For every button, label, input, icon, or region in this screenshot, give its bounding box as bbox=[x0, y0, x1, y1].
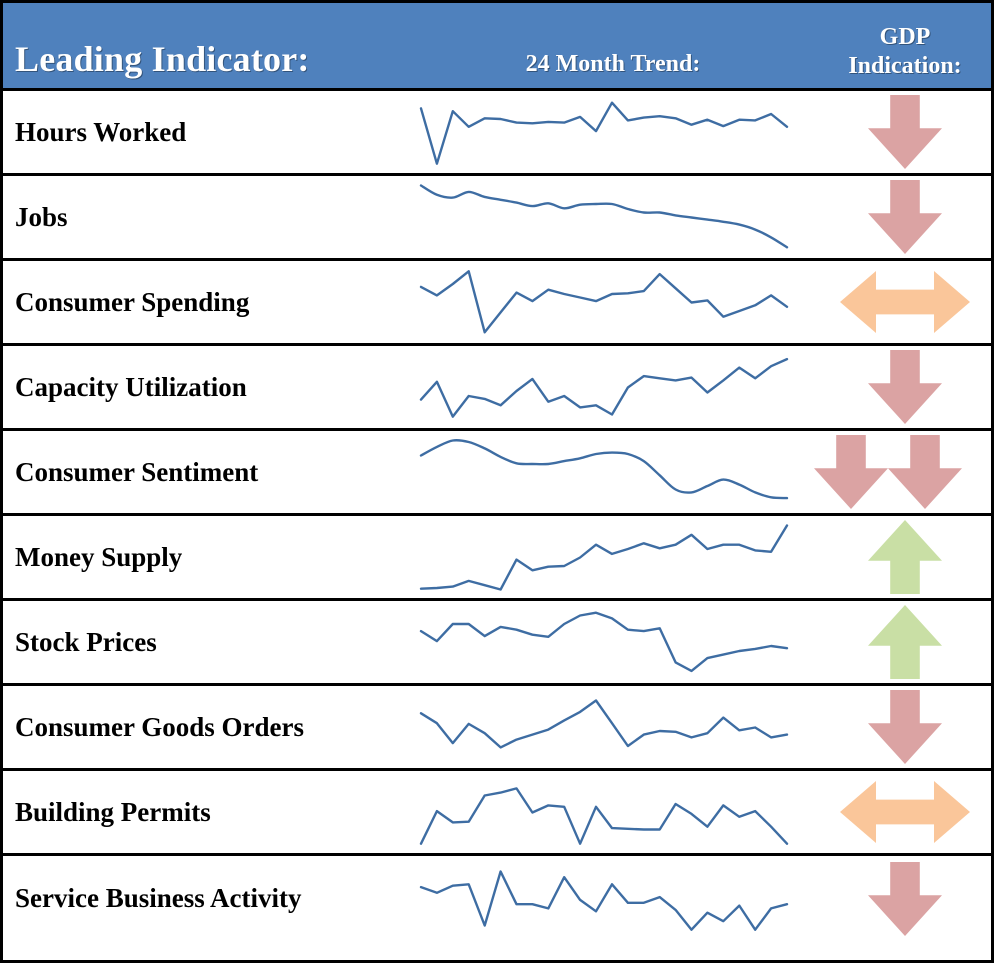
table-row: Building Permits bbox=[3, 771, 991, 856]
table-row: Money Supply bbox=[3, 516, 991, 601]
header-gdp-line2: Indication: bbox=[848, 52, 961, 80]
gdp-indication-cell bbox=[819, 601, 991, 683]
table-header-row: Leading Indicator: 24 Month Trend: GDP I… bbox=[3, 3, 991, 91]
table-row: Capacity Utilization bbox=[3, 346, 991, 431]
sparkline-3 bbox=[407, 346, 797, 429]
gdp-indication-cell bbox=[819, 431, 991, 513]
indicator-label: Consumer Goods Orders bbox=[3, 686, 407, 768]
trend-sparkline-cell bbox=[407, 261, 819, 343]
trend-sparkline-cell bbox=[407, 771, 819, 853]
double-arrow-down-icon bbox=[814, 435, 962, 509]
arrow-down-icon bbox=[868, 95, 942, 169]
indicator-label: Service Business Activity bbox=[3, 856, 407, 941]
table-body: Hours WorkedJobsConsumer SpendingCapacit… bbox=[3, 91, 991, 941]
sparkline-5 bbox=[407, 516, 797, 599]
indicator-label: Consumer Sentiment bbox=[3, 431, 407, 513]
header-gdp-line1: GDP bbox=[880, 23, 931, 51]
sparkline-7 bbox=[407, 686, 797, 769]
arrow-down-icon bbox=[868, 180, 942, 254]
sparkline-9 bbox=[407, 857, 797, 940]
arrow-down-icon bbox=[868, 350, 942, 424]
sparkline-4 bbox=[407, 431, 797, 514]
table-row: Stock Prices bbox=[3, 601, 991, 686]
gdp-indication-cell bbox=[819, 261, 991, 343]
arrow-up-icon bbox=[868, 605, 942, 679]
leading-indicators-table: Leading Indicator: 24 Month Trend: GDP I… bbox=[0, 0, 994, 963]
gdp-indication-cell bbox=[819, 91, 991, 173]
table-row: Consumer Spending bbox=[3, 261, 991, 346]
gdp-indication-cell bbox=[819, 856, 991, 941]
gdp-indication-cell bbox=[819, 771, 991, 853]
gdp-indication-cell bbox=[819, 516, 991, 598]
header-leading-indicator: Leading Indicator: bbox=[3, 3, 407, 88]
trend-sparkline-cell bbox=[407, 856, 819, 941]
gdp-indication-cell bbox=[819, 346, 991, 428]
sparkline-0 bbox=[407, 91, 797, 174]
gdp-indication-cell bbox=[819, 686, 991, 768]
indicator-label: Stock Prices bbox=[3, 601, 407, 683]
header-gdp-indication: GDP Indication: bbox=[819, 3, 991, 88]
header-24-month-trend: 24 Month Trend: bbox=[407, 3, 819, 88]
trend-sparkline-cell bbox=[407, 91, 819, 173]
indicator-label: Hours Worked bbox=[3, 91, 407, 173]
indicator-label: Capacity Utilization bbox=[3, 346, 407, 428]
arrow-down-icon bbox=[868, 862, 942, 936]
sparkline-1 bbox=[407, 176, 797, 259]
gdp-indication-cell bbox=[819, 176, 991, 258]
sparkline-8 bbox=[407, 771, 797, 854]
arrow-left-right-icon bbox=[840, 781, 970, 843]
arrow-up-icon bbox=[868, 520, 942, 594]
trend-sparkline-cell bbox=[407, 346, 819, 428]
indicator-label: Jobs bbox=[3, 176, 407, 258]
trend-sparkline-cell bbox=[407, 516, 819, 598]
table-row: Consumer Goods Orders bbox=[3, 686, 991, 771]
table-row: Hours Worked bbox=[3, 91, 991, 176]
indicator-label: Consumer Spending bbox=[3, 261, 407, 343]
indicator-label: Building Permits bbox=[3, 771, 407, 853]
table-row: Jobs bbox=[3, 176, 991, 261]
trend-sparkline-cell bbox=[407, 176, 819, 258]
trend-sparkline-cell bbox=[407, 601, 819, 683]
sparkline-2 bbox=[407, 261, 797, 344]
trend-sparkline-cell bbox=[407, 431, 819, 513]
trend-sparkline-cell bbox=[407, 686, 819, 768]
table-row: Consumer Sentiment bbox=[3, 431, 991, 516]
arrow-left-right-icon bbox=[840, 271, 970, 333]
indicator-label: Money Supply bbox=[3, 516, 407, 598]
sparkline-6 bbox=[407, 601, 797, 684]
arrow-down-icon bbox=[868, 690, 942, 764]
table-row: Service Business Activity bbox=[3, 856, 991, 941]
